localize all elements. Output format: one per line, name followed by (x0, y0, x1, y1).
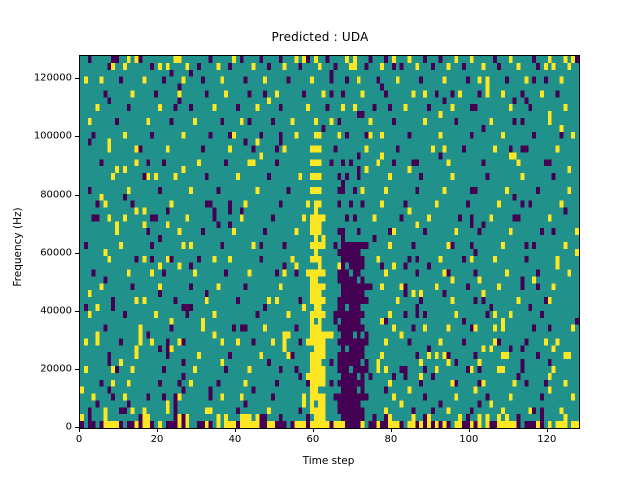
y-tick-mark (75, 369, 79, 370)
x-tick-label: 0 (76, 434, 82, 445)
x-tick-label: 80 (385, 434, 398, 445)
heatmap-plot-area (79, 55, 580, 429)
x-tick-label: 120 (537, 434, 556, 445)
y-tick-label: 40000 (0, 305, 72, 316)
heatmap-image (80, 56, 579, 428)
y-axis-label: Frequency (Hz) (12, 147, 24, 347)
x-tick-mark (79, 428, 80, 432)
y-tick-mark (75, 311, 79, 312)
x-tick-label: 40 (229, 434, 242, 445)
y-tick-label: 120000 (0, 73, 72, 84)
y-tick-label: 100000 (0, 131, 72, 142)
x-tick-mark (547, 428, 548, 432)
matplotlib-figure: Predicted : UDA 020406080100120 02000040… (0, 0, 640, 480)
y-tick-mark (75, 136, 79, 137)
x-tick-label: 100 (459, 434, 478, 445)
x-tick-label: 20 (151, 434, 164, 445)
y-tick-label: 20000 (0, 363, 72, 374)
x-tick-mark (391, 428, 392, 432)
x-tick-mark (157, 428, 158, 432)
x-tick-mark (235, 428, 236, 432)
x-axis-label: Time step (79, 455, 578, 467)
y-tick-mark (75, 78, 79, 79)
y-tick-label: 0 (0, 422, 72, 433)
x-tick-mark (469, 428, 470, 432)
y-tick-mark (75, 253, 79, 254)
y-tick-label: 60000 (0, 247, 72, 258)
x-tick-label: 60 (307, 434, 320, 445)
x-tick-mark (313, 428, 314, 432)
y-tick-mark (75, 195, 79, 196)
y-tick-label: 80000 (0, 189, 72, 200)
page-title: Predicted : UDA (0, 30, 640, 44)
y-tick-mark (75, 427, 79, 428)
